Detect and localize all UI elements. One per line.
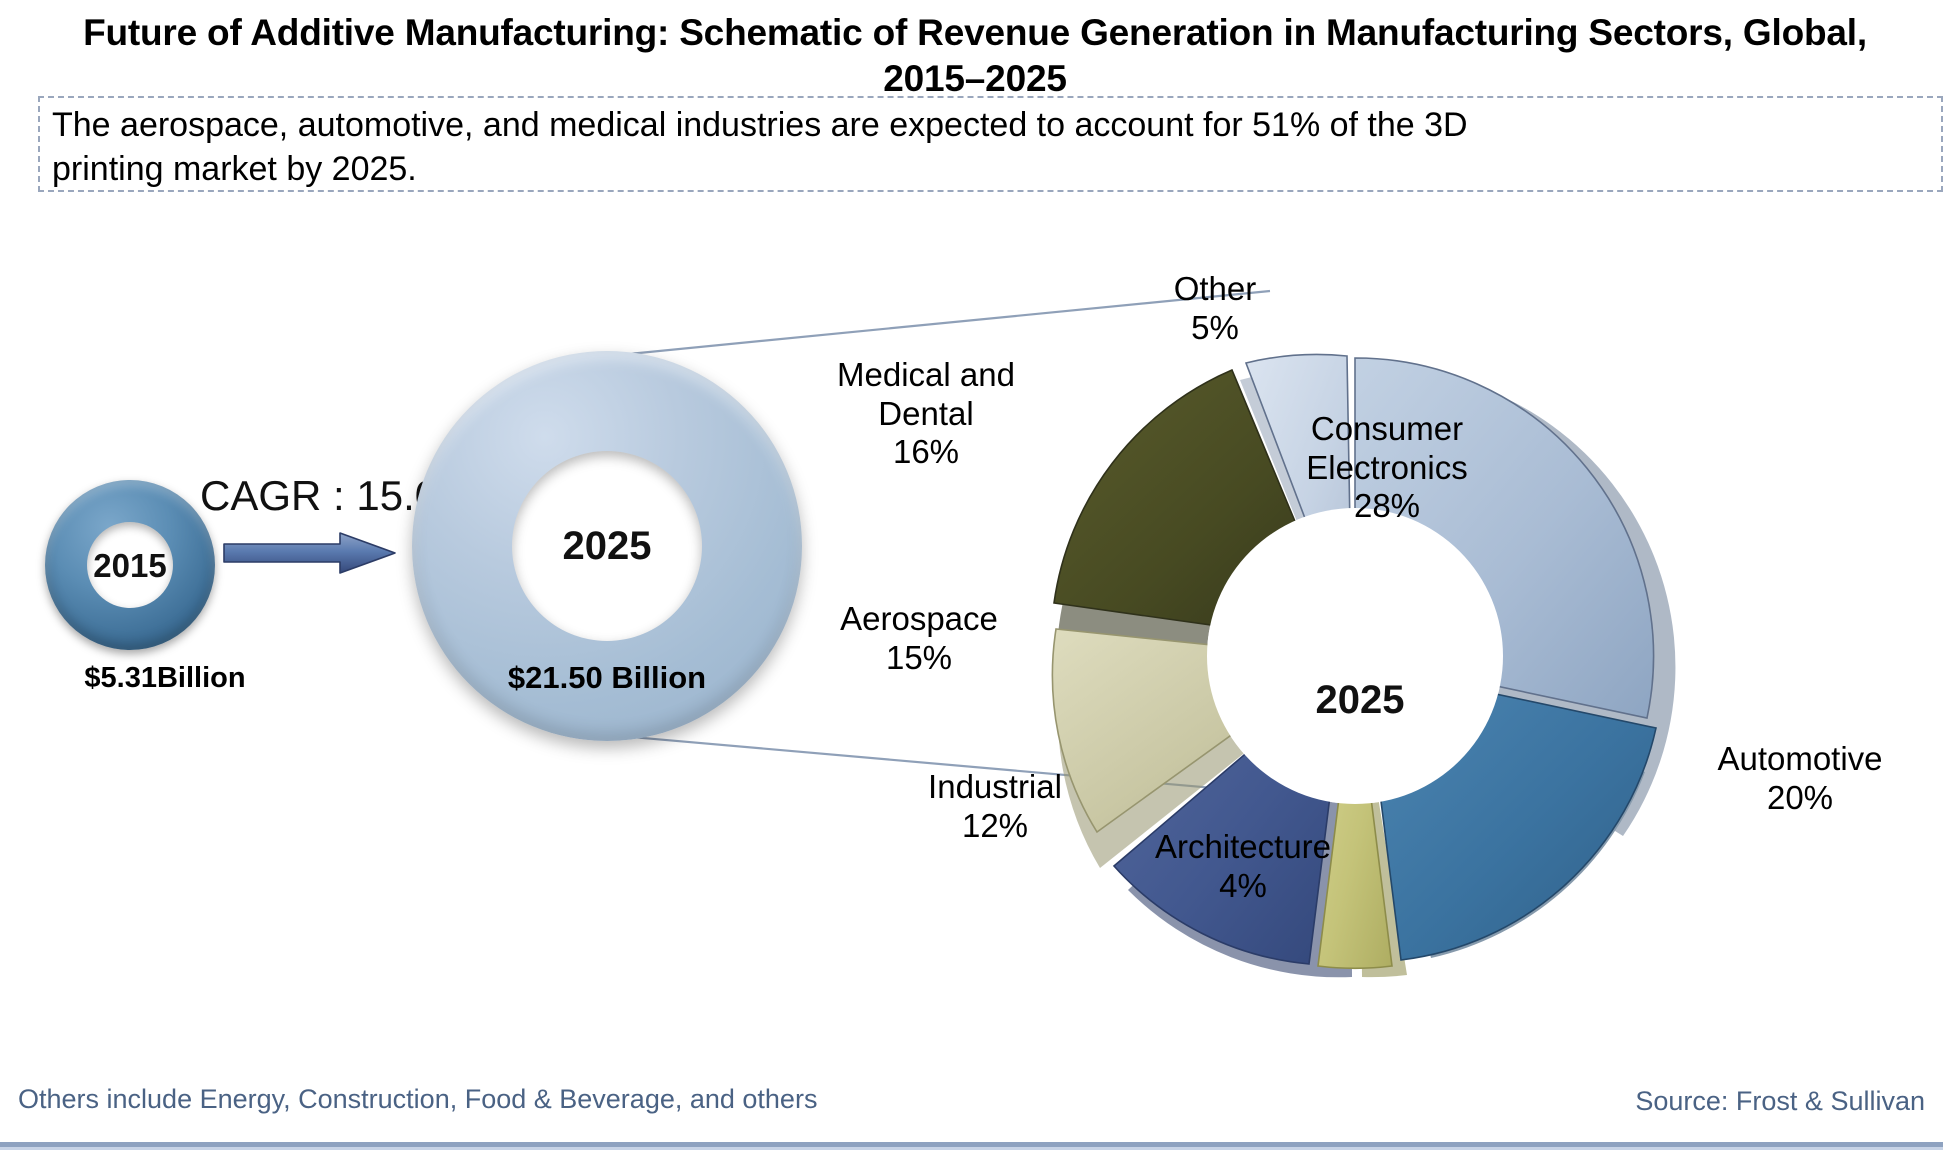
pie-label-industrial-value: 12%: [880, 807, 1110, 845]
donut-2015-year-label: 2015: [45, 547, 215, 585]
pie-label-architecture-value: 4%: [1098, 867, 1388, 905]
donut-2015-value-label: $5.31Billion: [20, 662, 310, 695]
pie-label-medical-dental-value: 16%: [806, 433, 1046, 471]
pie-label-consumer-electronics: Consumer Electronics 28%: [1252, 372, 1522, 563]
pie-label-architecture: Architecture 4%: [1098, 790, 1388, 943]
pie-label-medical-dental-name: Medical and Dental: [837, 356, 1015, 431]
donut-2025-value-label: $21.50 Billion: [412, 660, 802, 696]
footer-rule-secondary: [0, 1147, 1943, 1150]
page-title: Future of Additive Manufacturing: Schema…: [60, 10, 1890, 103]
pie-label-automotive-name: Automotive: [1717, 740, 1882, 777]
pie-label-medical-dental: Medical and Dental 16%: [806, 318, 1046, 509]
pie-label-consumer-electronics-name: Consumer Electronics: [1306, 410, 1467, 485]
pie-label-aerospace-name: Aerospace: [840, 600, 998, 637]
takeaway-text: The aerospace, automotive, and medical i…: [52, 104, 1502, 191]
donut-2025-year-label: 2025: [412, 524, 802, 569]
growth-arrow-icon: [222, 530, 397, 576]
pie-label-aerospace-value: 15%: [804, 639, 1034, 677]
pie-label-other: Other 5%: [1120, 232, 1310, 385]
pie-label-industrial-name: Industrial: [928, 768, 1062, 805]
footer-note: Others include Energy, Construction, Foo…: [18, 1084, 817, 1115]
pie-label-other-value: 5%: [1120, 309, 1310, 347]
chart-stage: 2015 $5.31Billion CAGR : 15.0% 2025 $21.…: [0, 196, 1943, 1058]
pie-label-automotive-value: 20%: [1655, 779, 1943, 817]
pie-label-aerospace: Aerospace 15%: [804, 562, 1034, 715]
pie-label-other-name: Other: [1174, 270, 1257, 307]
donut-2015[interactable]: 2015: [45, 480, 215, 650]
pie-label-architecture-name: Architecture: [1155, 828, 1331, 865]
pie-label-automotive: Automotive 20%: [1655, 702, 1943, 855]
slide-root: Future of Additive Manufacturing: Schema…: [0, 0, 1943, 1158]
pie-label-industrial: Industrial 12%: [880, 730, 1110, 883]
footer-source: Source: Frost & Sullivan: [1635, 1086, 1925, 1117]
pie-label-consumer-electronics-value: 28%: [1252, 487, 1522, 525]
